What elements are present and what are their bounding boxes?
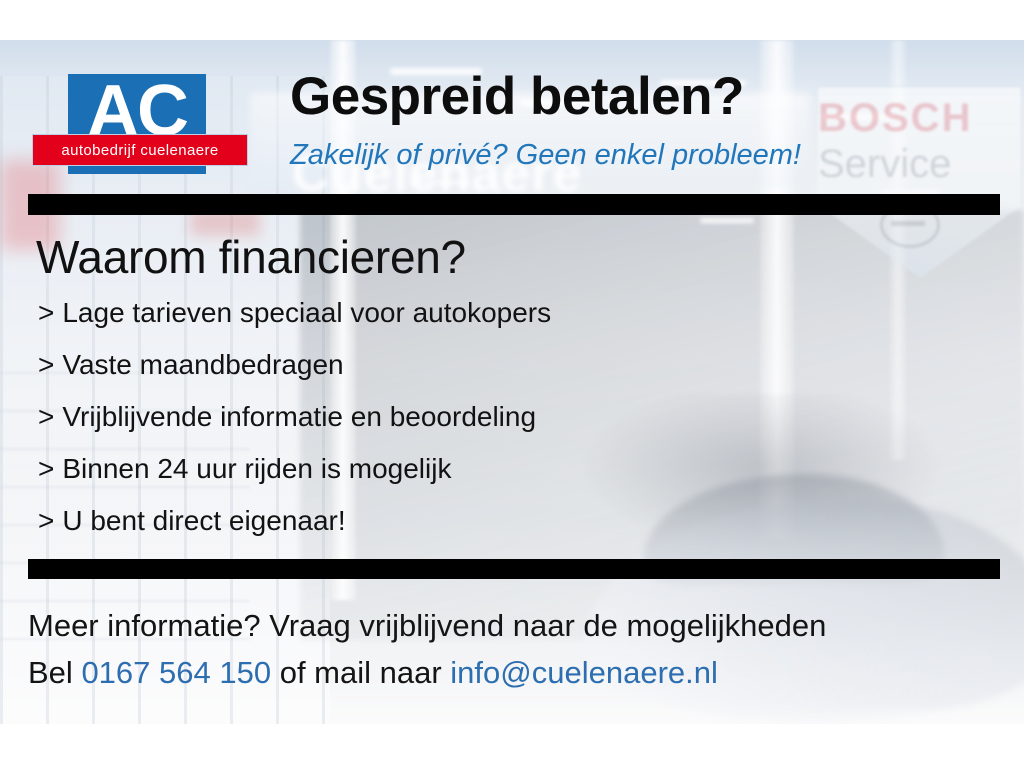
- list-item: >Vrijblijvende informatie en beoordeling: [38, 400, 738, 452]
- logo-red-banner: autobedrijf cuelenaere: [32, 134, 248, 166]
- list-item-label: Binnen 24 uur rijden is mogelijk: [62, 453, 451, 484]
- chevron-right-icon: >: [38, 349, 54, 380]
- list-item-label: U bent direct eigenaar!: [62, 505, 345, 536]
- contact-block: Meer informatie? Vraag vrijblijvend naar…: [28, 606, 988, 700]
- benefit-list: >Lage tarieven speciaal voor autokopers …: [38, 296, 738, 556]
- list-item: >Lage tarieven speciaal voor autokopers: [38, 296, 738, 348]
- call-prefix-label: Bel: [28, 655, 73, 690]
- headline: Gespreid betalen?: [290, 66, 744, 127]
- chevron-right-icon: >: [38, 401, 54, 432]
- divider-bottom: [28, 559, 1000, 579]
- logo-tagline: autobedrijf cuelenaere: [61, 142, 218, 159]
- company-logo: AC autobedrijf cuelenaere: [68, 74, 206, 174]
- chevron-right-icon: >: [38, 505, 54, 536]
- subheadline: Zakelijk of privé? Geen enkel probleem!: [290, 139, 801, 172]
- list-item-label: Vaste maandbedragen: [62, 349, 343, 380]
- list-item: >Binnen 24 uur rijden is mogelijk: [38, 452, 738, 504]
- list-item: >U bent direct eigenaar!: [38, 504, 738, 556]
- list-item-label: Lage tarieven speciaal voor autokopers: [62, 297, 551, 328]
- divider-top: [28, 194, 1000, 215]
- poster-content: AC autobedrijf cuelenaere Gespreid betal…: [0, 0, 1024, 768]
- contact-prompt: Meer informatie? Vraag vrijblijvend naar…: [28, 606, 988, 653]
- chevron-right-icon: >: [38, 297, 54, 328]
- list-item-label: Vrijblijvende informatie en beoordeling: [62, 401, 536, 432]
- contact-details: Bel 0167 564 150 of mail naar info@cuele…: [28, 653, 988, 700]
- mail-connector-label: of mail naar: [280, 655, 442, 690]
- chevron-right-icon: >: [38, 453, 54, 484]
- email-address[interactable]: info@cuelenaere.nl: [450, 655, 718, 690]
- section-title: Waarom financieren?: [36, 230, 466, 284]
- list-item: >Vaste maandbedragen: [38, 348, 738, 400]
- poster-advertisement: BOSCH Service Cuelenaere AC autobedrijf …: [0, 0, 1024, 768]
- phone-number[interactable]: 0167 564 150: [81, 655, 271, 690]
